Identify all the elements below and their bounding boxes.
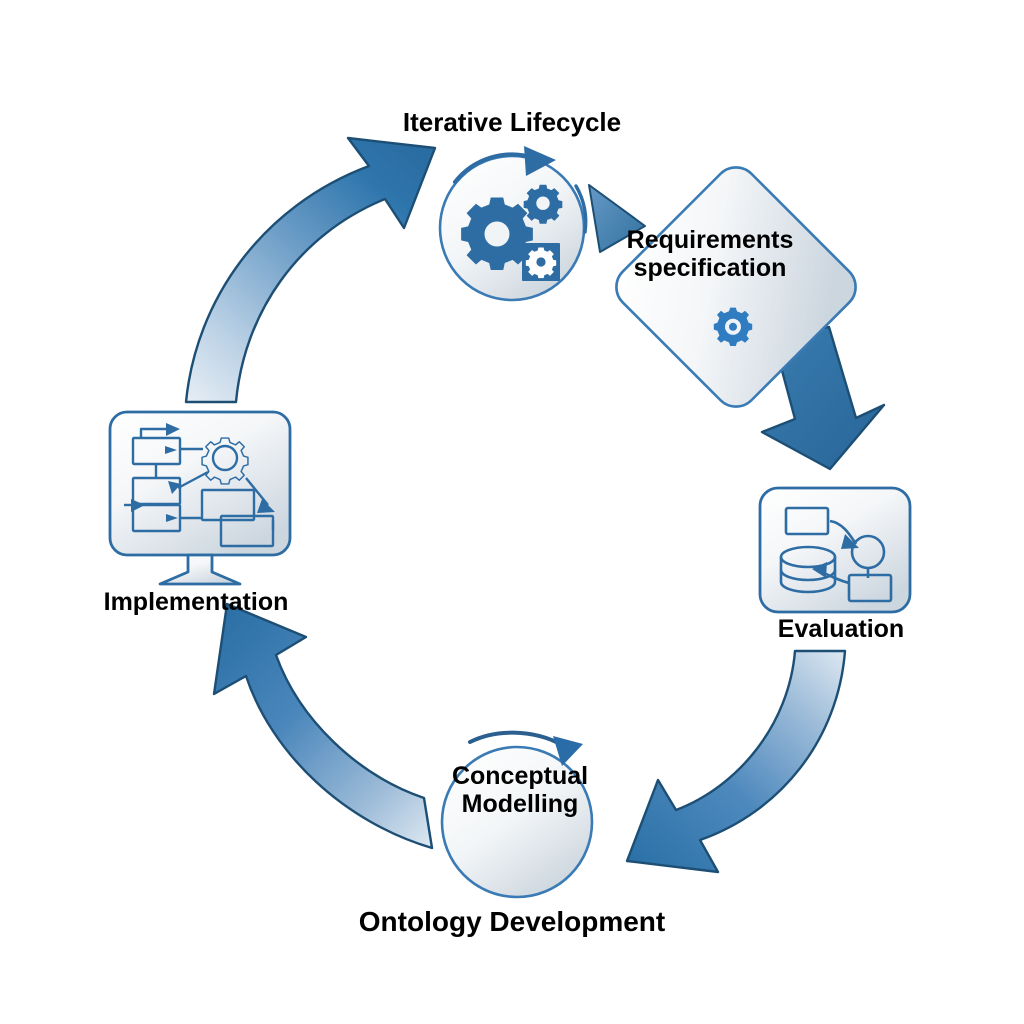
label-conceptual-line2: Modelling [462, 790, 579, 818]
node-evaluation[interactable] [760, 488, 910, 612]
arrow-implementation-to-lifecycle [186, 138, 435, 402]
label-ontology-development: Ontology Development [0, 906, 1024, 937]
label-evaluation: Evaluation [706, 615, 976, 643]
diagram-canvas [0, 0, 1024, 1024]
monitor-stand [160, 555, 240, 584]
node-iterative-lifecycle[interactable] [440, 146, 586, 300]
arrow-evaluation-to-conceptual [627, 651, 845, 872]
label-iterative-lifecycle: Iterative Lifecycle [0, 108, 1024, 137]
label-requirements-specification: Requirements specification [598, 226, 822, 282]
label-conceptual-modelling: Conceptual Modelling [406, 762, 634, 818]
node-implementation[interactable] [110, 412, 290, 584]
label-conceptual-line1: Conceptual [452, 762, 588, 790]
label-implementation: Implementation [64, 588, 328, 616]
label-requirements-line1: Requirements [627, 226, 794, 254]
monitor-screen [110, 412, 290, 555]
evaluation-card [760, 488, 910, 612]
curved-arrow-icon [470, 733, 566, 748]
ontology-development-diagram: Iterative Lifecycle Requirements specifi… [0, 0, 1024, 1024]
gear-icon [714, 308, 752, 346]
arrow-conceptual-to-implementation [214, 604, 432, 848]
label-requirements-line2: specification [634, 254, 787, 282]
